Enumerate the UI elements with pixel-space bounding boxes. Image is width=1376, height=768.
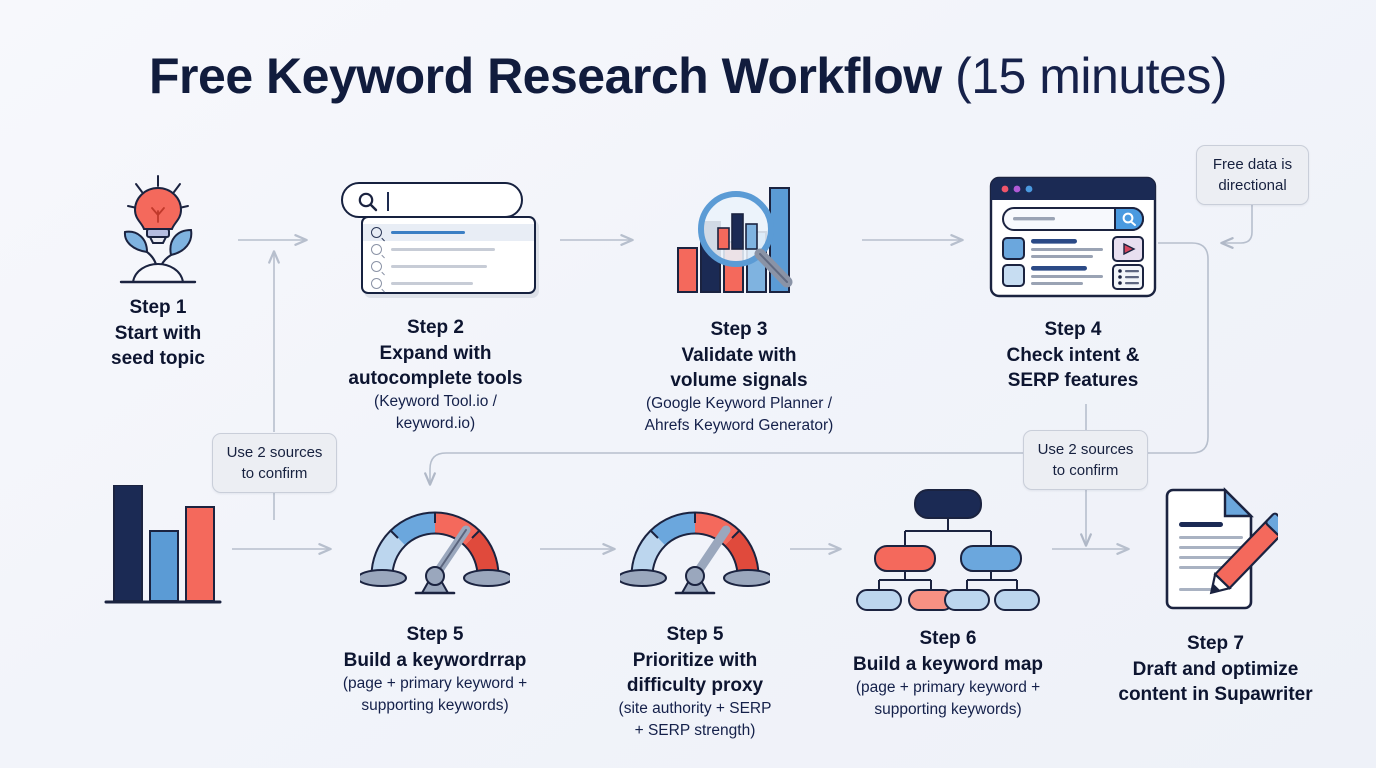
step-7-title-line2: content in Supawriter — [1113, 682, 1318, 707]
bar-chart-magnifier-icon — [674, 176, 804, 298]
suggestion-search-icon — [371, 227, 382, 238]
step-4-title-line1: Check intent & — [969, 343, 1177, 368]
suggestion-row[interactable] — [371, 241, 526, 258]
suggestion-search-icon — [371, 261, 382, 272]
callout-use-2-sources-left[interactable]: Use 2 sources to confirm — [212, 433, 337, 493]
step-2-number: Step 2 — [333, 314, 538, 341]
callout-free-data-is-directional[interactable]: Free data is directional — [1196, 145, 1309, 205]
step-1-number: Step 1 — [58, 294, 258, 321]
autocomplete-dropdown[interactable] — [361, 216, 536, 294]
callout-line2: to confirm — [224, 463, 325, 484]
step-2-node[interactable]: Step 2 Expand with autocomplete tools (K… — [333, 180, 538, 435]
step-5b-title-line1: Prioritize with — [592, 648, 798, 673]
step-5a-node[interactable]: Step 5 Build a keywordrrap (page + prima… — [330, 492, 540, 717]
search-autocomplete-icon[interactable] — [333, 180, 538, 300]
step-6-subtitle-line2: supporting keywords) — [850, 699, 1046, 721]
suggestion-text-bar — [391, 265, 487, 268]
step-5b-title-line2: difficulty proxy — [592, 673, 798, 698]
hierarchy-tree-icon — [853, 486, 1043, 611]
step-4-number: Step 4 — [969, 316, 1177, 343]
step-2-subtitle: (Keyword Tool.io / keyword.io) — [333, 391, 538, 435]
step-3-title-line2: volume signals — [633, 368, 845, 393]
callout-line2: directional — [1208, 175, 1297, 196]
step-3-title-line1: Validate with — [633, 343, 845, 368]
step-4-node[interactable]: Step 4 Check intent & SERP features — [969, 176, 1177, 393]
suggestion-search-icon — [371, 244, 382, 255]
step-2-title-line1: Expand with — [333, 341, 538, 366]
step-3-number: Step 3 — [633, 316, 845, 343]
step-5a-subtitle-line1: (page + primary keyword + — [330, 673, 540, 695]
suggestion-search-icon — [371, 278, 382, 289]
suggestion-row[interactable] — [363, 224, 534, 241]
step-5b-subtitle-line1: (site authority + SERP — [592, 698, 798, 720]
step-4-title-line2: SERP features — [969, 368, 1177, 393]
suggestion-text-bar — [391, 282, 473, 285]
step-3-subtitle-line2: Ahrefs Keyword Generator) — [633, 415, 845, 437]
step-5a-title: Build a keywordrrap — [330, 648, 540, 673]
callout-line1: Use 2 sources — [224, 442, 325, 463]
step-5b-node[interactable]: Step 5 Prioritize with difficulty proxy … — [592, 492, 798, 742]
suggestion-text-bar — [391, 248, 495, 251]
step-1-node[interactable]: Step 1 Start with seed topic — [58, 170, 258, 371]
search-icon — [357, 191, 379, 213]
bar-chart-icon — [102, 485, 222, 610]
callout-line2: to confirm — [1035, 460, 1136, 481]
step-1-title-line1: Start with — [58, 321, 258, 346]
step-6-title: Build a keyword map — [850, 652, 1046, 677]
step-5a-subtitle-line2: supporting keywords) — [330, 695, 540, 717]
step-5b-subtitle-line2: + SERP strength) — [592, 720, 798, 742]
step-6-subtitle-line1: (page + primary keyword + — [850, 677, 1046, 699]
step-7-node[interactable]: Step 7 Draft and optimize content in Sup… — [1113, 484, 1318, 707]
gauge-icon — [620, 492, 770, 597]
suggestion-text-bar — [391, 231, 465, 234]
step-6-node[interactable]: Step 6 Build a keyword map (page + prima… — [850, 486, 1046, 721]
step-7-number: Step 7 — [1113, 630, 1318, 657]
callout-use-2-sources-right[interactable]: Use 2 sources to confirm — [1023, 430, 1148, 490]
suggestion-row[interactable] — [371, 258, 526, 275]
search-input[interactable] — [341, 182, 523, 218]
callout-line1: Use 2 sources — [1035, 439, 1136, 460]
browser-serp-icon — [989, 176, 1157, 298]
document-pencil-icon — [1153, 484, 1278, 614]
callout-line1: Free data is — [1208, 154, 1297, 175]
arrow-free-data-chip — [1222, 200, 1252, 243]
lightbulb-sprout-icon — [103, 170, 213, 290]
step-7-title-line1: Draft and optimize — [1113, 657, 1318, 682]
suggestion-row[interactable] — [371, 275, 526, 292]
step-1-title-line2: seed topic — [58, 346, 258, 371]
text-cursor — [387, 192, 389, 211]
gauge-icon — [360, 492, 510, 597]
bottom-bar-chart-node — [102, 485, 222, 610]
step-5a-number: Step 5 — [330, 621, 540, 648]
step-5b-number: Step 5 — [592, 621, 798, 648]
step-3-node[interactable]: Step 3 Validate with volume signals (Goo… — [633, 176, 845, 437]
step-2-title-line2: autocomplete tools — [333, 366, 538, 391]
step-3-subtitle-line1: (Google Keyword Planner / — [633, 393, 845, 415]
step-6-number: Step 6 — [850, 625, 1046, 652]
